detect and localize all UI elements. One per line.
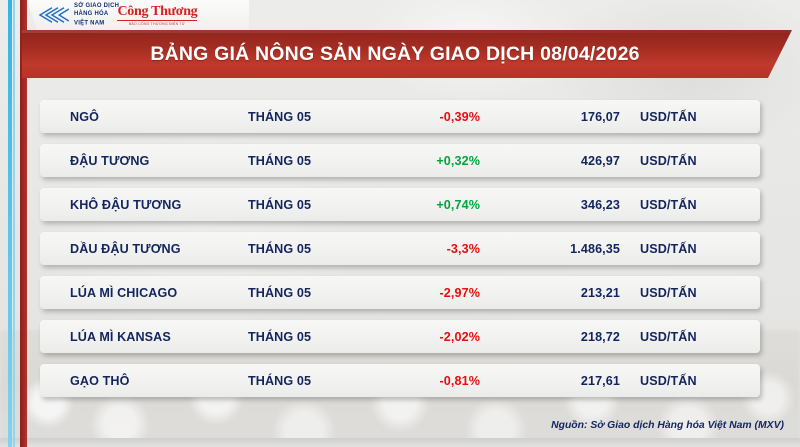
price-value: 218,72 bbox=[490, 330, 620, 344]
cyan-accent-stripe bbox=[8, 0, 12, 447]
logo-bar: SỞ GIAO DỊCH HÀNG HÓA VIỆT NAM Công Thươ… bbox=[27, 0, 249, 30]
table-row: KHÔ ĐẬU TƯƠNGTHÁNG 05+0,74%346,23USD/TẤN bbox=[40, 188, 760, 221]
change-percent: -0,39% bbox=[370, 110, 480, 124]
price-unit: USD/TẤN bbox=[640, 242, 697, 256]
change-percent: -0,81% bbox=[370, 374, 480, 388]
publisher-rule bbox=[117, 20, 197, 21]
change-percent: -3,3% bbox=[370, 242, 480, 256]
price-value: 426,97 bbox=[490, 154, 620, 168]
commodity-name: LÚA MÌ KANSAS bbox=[70, 330, 171, 344]
mxv-logo: SỞ GIAO DỊCH HÀNG HÓA VIỆT NAM bbox=[34, 5, 107, 25]
contract-month: THÁNG 05 bbox=[248, 374, 311, 388]
publisher-name: Công Thương bbox=[117, 5, 197, 19]
infographic-page: SỞ GIAO DỊCH HÀNG HÓA VIỆT NAM Công Thươ… bbox=[0, 0, 800, 447]
price-unit: USD/TẤN bbox=[640, 154, 697, 168]
price-unit: USD/TẤN bbox=[640, 110, 697, 124]
cong-thuong-logo: Công Thương BÁO CÔNG THƯƠNG ĐIỆN TỬ bbox=[117, 5, 197, 25]
title-banner: BẢNG GIÁ NÔNG SẢN NGÀY GIAO DỊCH 08/04/2… bbox=[22, 30, 792, 78]
table-row: DẦU ĐẬU TƯƠNGTHÁNG 05-3,3%1.486,35USD/TẤ… bbox=[40, 232, 760, 265]
price-unit: USD/TẤN bbox=[640, 374, 697, 388]
price-value: 176,07 bbox=[490, 110, 620, 124]
commodity-name: ĐẬU TƯƠNG bbox=[70, 154, 149, 168]
table-row: ĐẬU TƯƠNGTHÁNG 05+0,32%426,97USD/TẤN bbox=[40, 144, 760, 177]
contract-month: THÁNG 05 bbox=[248, 286, 311, 300]
commodity-name: GẠO THÔ bbox=[70, 374, 129, 388]
table-row: GẠO THÔTHÁNG 05-0,81%217,61USD/TẤN bbox=[40, 364, 760, 397]
table-row: NGÔTHÁNG 05-0,39%176,07USD/TẤN bbox=[40, 100, 760, 133]
contract-month: THÁNG 05 bbox=[248, 330, 311, 344]
page-title: BẢNG GIÁ NÔNG SẢN NGÀY GIAO DỊCH 08/04/2… bbox=[150, 43, 639, 66]
contract-month: THÁNG 05 bbox=[248, 242, 311, 256]
contract-month: THÁNG 05 bbox=[248, 110, 311, 124]
commodity-name: LÚA MÌ CHICAGO bbox=[70, 286, 177, 300]
price-unit: USD/TẤN bbox=[640, 330, 697, 344]
price-unit: USD/TẤN bbox=[640, 286, 697, 300]
table-row: LÚA MÌ CHICAGOTHÁNG 05-2,97%213,21USD/TẤ… bbox=[40, 276, 760, 309]
contract-month: THÁNG 05 bbox=[248, 154, 311, 168]
contract-month: THÁNG 05 bbox=[248, 198, 311, 212]
price-value: 213,21 bbox=[490, 286, 620, 300]
publisher-subtitle: BÁO CÔNG THƯƠNG ĐIỆN TỬ bbox=[101, 22, 213, 26]
cyan-accent-stripe-2 bbox=[13, 0, 15, 447]
change-percent: -2,97% bbox=[370, 286, 480, 300]
mxv-chevron-icon bbox=[34, 5, 70, 25]
source-note: Nguồn: Sở Giao dịch Hàng hóa Việt Nam (M… bbox=[551, 420, 784, 431]
change-percent: -2,02% bbox=[370, 330, 480, 344]
price-unit: USD/TẤN bbox=[640, 198, 697, 212]
change-percent: +0,74% bbox=[370, 198, 480, 212]
bottom-bar bbox=[0, 438, 800, 447]
price-value: 217,61 bbox=[490, 374, 620, 388]
change-percent: +0,32% bbox=[370, 154, 480, 168]
table-row: LÚA MÌ KANSASTHÁNG 05-2,02%218,72USD/TẤN bbox=[40, 320, 760, 353]
commodity-name: DẦU ĐẬU TƯƠNG bbox=[70, 242, 181, 256]
price-table: NGÔTHÁNG 05-0,39%176,07USD/TẤNĐẬU TƯƠNGT… bbox=[40, 100, 760, 408]
commodity-name: KHÔ ĐẬU TƯƠNG bbox=[70, 198, 181, 212]
price-value: 346,23 bbox=[490, 198, 620, 212]
price-value: 1.486,35 bbox=[490, 242, 620, 256]
commodity-name: NGÔ bbox=[70, 110, 99, 124]
